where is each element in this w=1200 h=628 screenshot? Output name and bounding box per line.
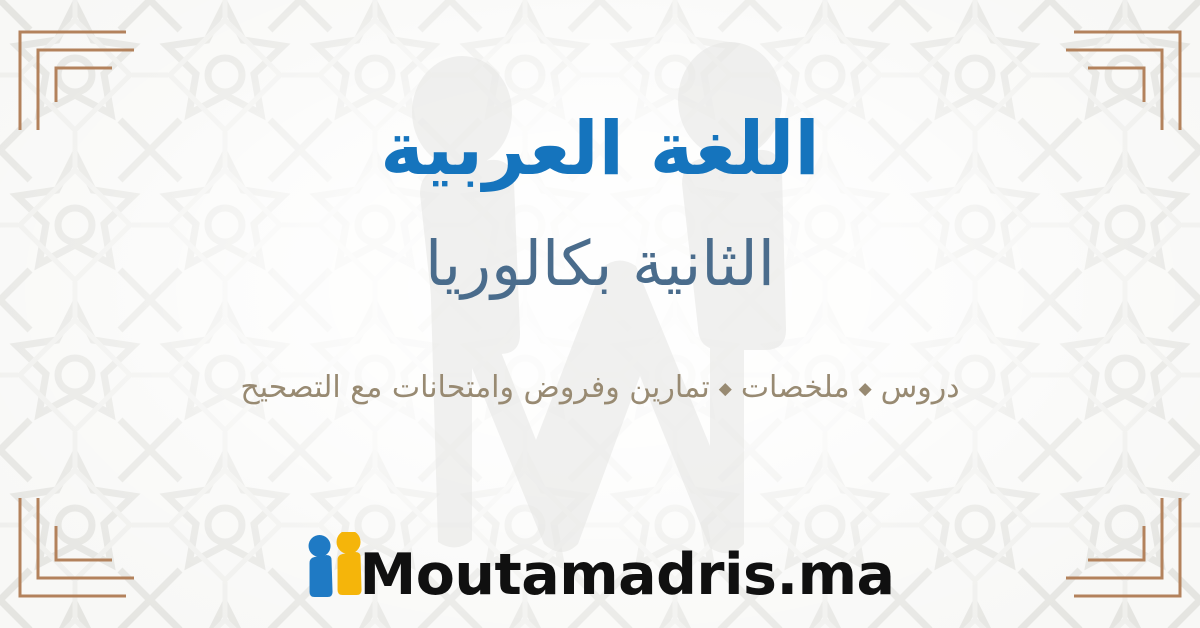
tagline-separator-icon: ◆ xyxy=(710,379,741,399)
page-title: اللغة العربية xyxy=(380,108,820,191)
moutamadris-logo-icon xyxy=(306,532,366,606)
tagline-item-3: تمارين وفروض وامتحانات مع التصحيح xyxy=(240,370,709,405)
page-subtitle: الثانية بكالوريا xyxy=(425,229,775,298)
tagline: دروس◆ملخصات◆تمارين وفروض وامتحانات مع ال… xyxy=(240,368,959,407)
tagline-item-1: دروس xyxy=(881,370,960,405)
poster-canvas: اللغة العربية الثانية بكالوريا دروس◆ملخص… xyxy=(0,0,1200,628)
tagline-separator-icon: ◆ xyxy=(850,379,881,399)
brand-name: Moutamadris.ma xyxy=(360,547,895,606)
tagline-item-2: ملخصات xyxy=(741,370,850,405)
brand-lockup: Moutamadris.ma xyxy=(306,532,895,606)
